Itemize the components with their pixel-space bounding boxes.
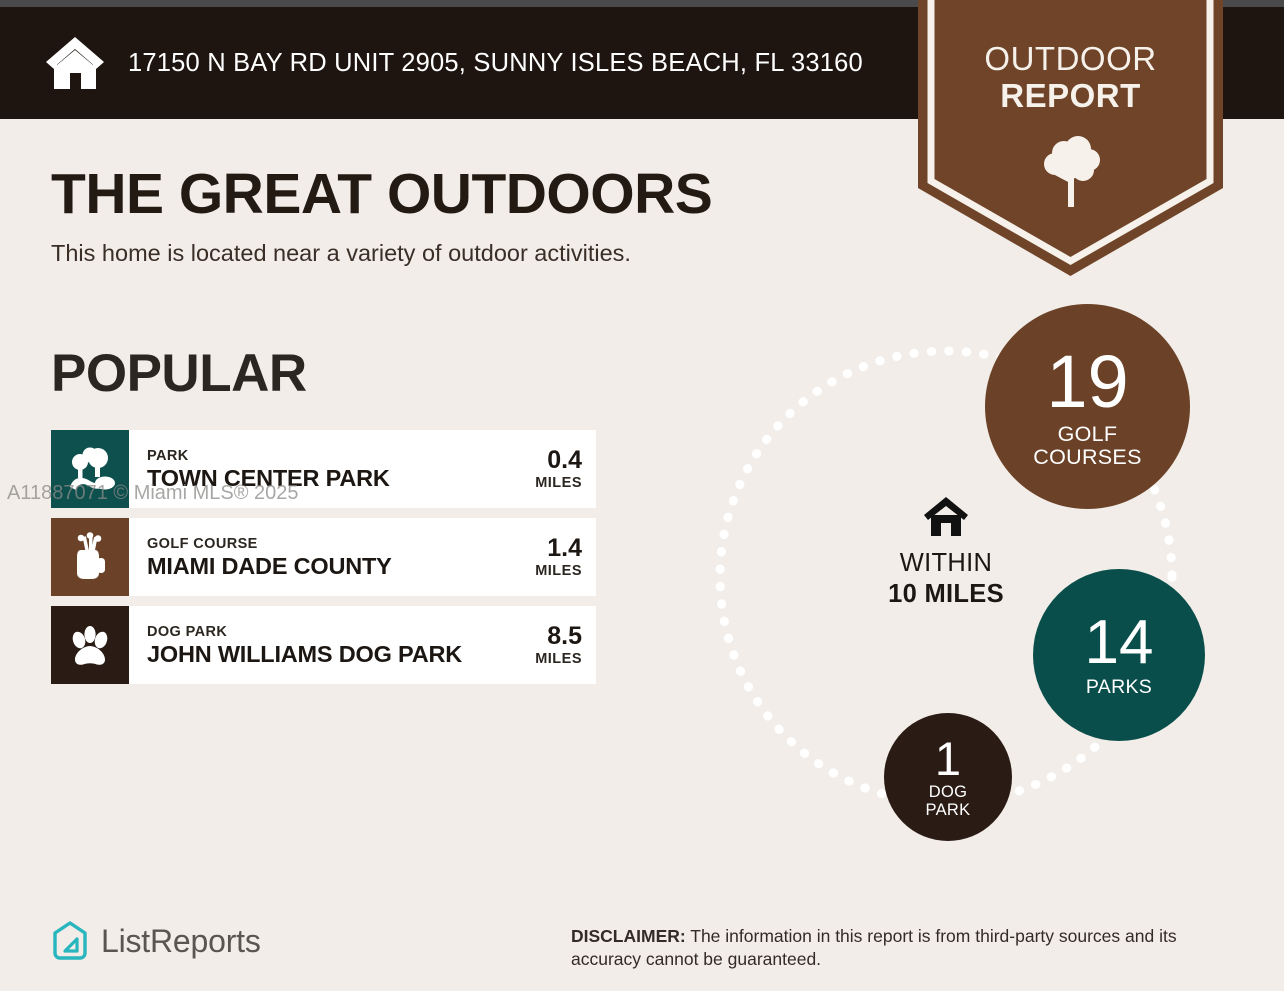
poi-name: TOWN CENTER PARK <box>147 465 390 492</box>
poi-name: JOHN WILLIAMS DOG PARK <box>147 641 462 668</box>
home-icon <box>923 495 969 537</box>
poi-distance-value: 0.4 <box>535 447 582 474</box>
outdoor-report-badge: OUTDOOR REPORT <box>918 0 1223 276</box>
poi-body: PARK TOWN CENTER PARK 0.4 MILES <box>129 430 596 508</box>
poi-distance: 1.4 MILES <box>527 535 582 580</box>
poi-distance-value: 1.4 <box>535 535 582 562</box>
stat-bubble-golf-courses[interactable]: 19 GOLF COURSES <box>985 304 1190 509</box>
stat-label-line1: DOG <box>929 784 967 801</box>
badge-title-line1: OUTDOOR <box>918 40 1223 77</box>
stat-label-line2: PARK <box>926 802 971 819</box>
poi-distance-value: 8.5 <box>535 623 582 650</box>
poi-distance-unit: MILES <box>535 562 582 580</box>
center-label-line1: WITHIN <box>840 548 1052 579</box>
outdoor-infographic: 19 GOLF COURSES 14 PARKS 1 DOG PARK WITH… <box>665 295 1225 865</box>
poi-distance: 0.4 MILES <box>527 447 582 492</box>
badge-title-line2: REPORT <box>918 77 1223 114</box>
stat-value: 1 <box>935 735 961 782</box>
poi-name: MIAMI DADE COUNTY <box>147 553 392 580</box>
stat-value: 19 <box>1046 345 1128 419</box>
poi-texts: DOG PARK JOHN WILLIAMS DOG PARK <box>147 623 462 668</box>
popular-heading: POPULAR <box>51 344 307 404</box>
stat-bubble-parks[interactable]: 14 PARKS <box>1033 569 1205 741</box>
poi-body: GOLF COURSE MIAMI DADE COUNTY 1.4 MILES <box>129 518 596 596</box>
stat-bubble-dog-park[interactable]: 1 DOG PARK <box>884 713 1012 841</box>
stat-value: 14 <box>1085 612 1154 674</box>
golf-bag-icon <box>64 531 116 583</box>
stat-label-line2: COURSES <box>1033 446 1141 468</box>
home-icon <box>44 35 106 91</box>
poi-category: GOLF COURSE <box>147 535 392 553</box>
disclaimer-label: DISCLAIMER: <box>571 926 686 946</box>
poi-tile <box>51 606 129 684</box>
poi-distance: 8.5 MILES <box>527 623 582 668</box>
paw-print-icon <box>64 619 116 671</box>
listreports-house-icon <box>51 920 89 961</box>
park-trees-icon <box>64 443 116 495</box>
poi-texts: GOLF COURSE MIAMI DADE COUNTY <box>147 535 392 580</box>
list-item[interactable]: PARK TOWN CENTER PARK 0.4 MILES <box>51 430 596 508</box>
listreports-logo[interactable]: ListReports <box>51 920 261 961</box>
poi-category: DOG PARK <box>147 623 462 641</box>
stat-label-line1: PARKS <box>1086 677 1152 697</box>
list-item[interactable]: DOG PARK JOHN WILLIAMS DOG PARK 8.5 MILE… <box>51 606 596 684</box>
poi-distance-unit: MILES <box>535 474 582 492</box>
stat-label-line1: GOLF <box>1058 423 1118 445</box>
center-label-line2: 10 MILES <box>840 579 1052 610</box>
badge-title: OUTDOOR REPORT <box>918 40 1223 114</box>
property-address: 17150 N BAY RD UNIT 2905, SUNNY ISLES BE… <box>128 49 863 78</box>
poi-tile <box>51 430 129 508</box>
poi-distance-unit: MILES <box>535 650 582 668</box>
poi-body: DOG PARK JOHN WILLIAMS DOG PARK 8.5 MILE… <box>129 606 596 684</box>
poi-tile <box>51 518 129 596</box>
listreports-logo-text: ListReports <box>101 923 261 959</box>
outdoor-report-page: 17150 N BAY RD UNIT 2905, SUNNY ISLES BE… <box>0 0 1284 991</box>
disclaimer: DISCLAIMER: The information in this repo… <box>571 925 1243 971</box>
popular-list: PARK TOWN CENTER PARK 0.4 MILES <box>51 430 596 694</box>
list-item[interactable]: GOLF COURSE MIAMI DADE COUNTY 1.4 MILES <box>51 518 596 596</box>
page-subtitle: This home is located near a variety of o… <box>51 238 631 268</box>
page-title: THE GREAT OUTDOORS <box>51 162 712 226</box>
infographic-center: WITHIN 10 MILES <box>840 495 1052 610</box>
tree-icon <box>1038 133 1104 207</box>
poi-category: PARK <box>147 447 390 465</box>
poi-texts: PARK TOWN CENTER PARK <box>147 447 390 492</box>
